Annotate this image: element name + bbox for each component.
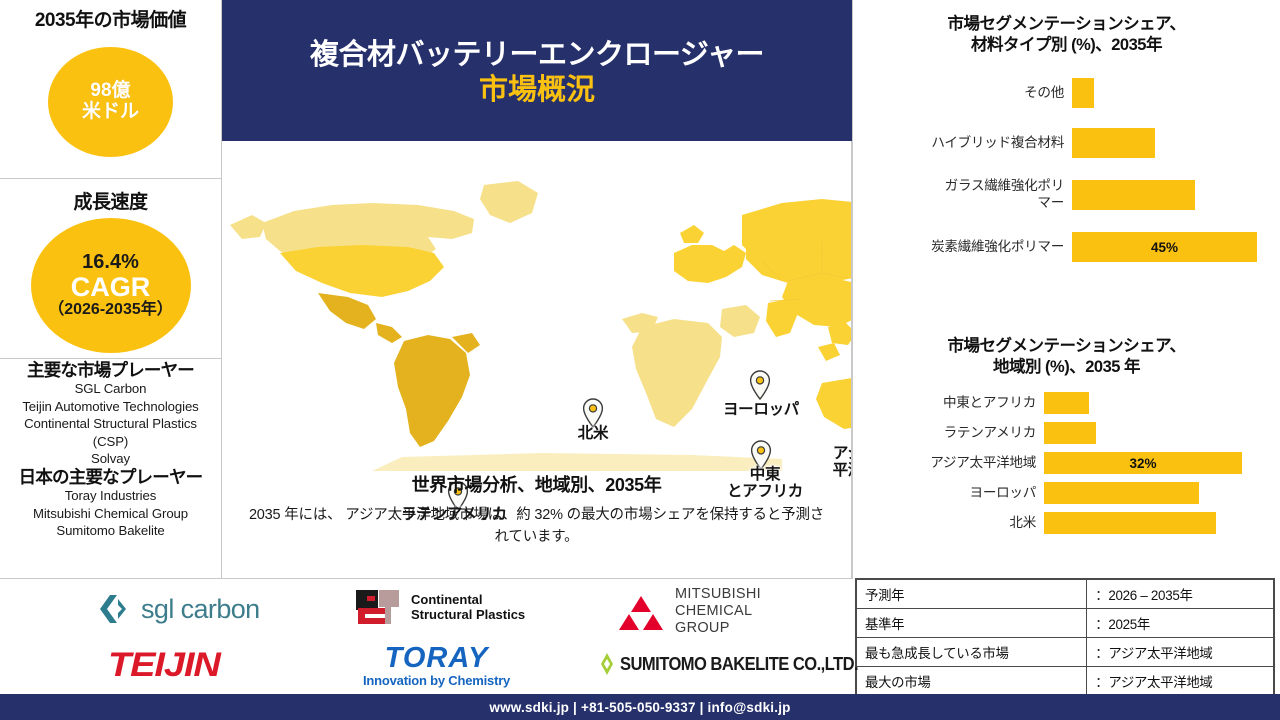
- growth-rate-section: 成長速度 16.4% CAGR （2026-2035年）: [0, 178, 221, 358]
- page-title: 複合材バッテリーエンクロージャー: [310, 38, 764, 72]
- regional-bar-row: 北米: [853, 512, 1280, 534]
- material-chart-title: 市場セグメンテーションシェア、 材料タイプ別 (%)、2035年: [853, 0, 1280, 78]
- teijin-wordmark: TEIJIN: [108, 646, 220, 685]
- material-share-chart: 市場セグメンテーションシェア、 材料タイプ別 (%)、2035年 その他 ハイブ…: [853, 0, 1280, 282]
- table-cell-value: ：2025年: [1087, 609, 1274, 638]
- growth-rate-title: 成長速度: [0, 179, 221, 214]
- map-label-north-america: 北米: [560, 425, 626, 442]
- footer-contact-bar: www.sdki.jp | +81-505-050-9337 | info@sd…: [0, 694, 1280, 720]
- world-map-panel: 北米 ヨーロッパ アジア太 平洋地域 中東 とアフリカ ラテンアメリカ 世界市場…: [222, 141, 852, 578]
- mcg-line1: MITSUBISHI: [675, 586, 761, 602]
- material-bar-label: ハイブリッド複合材料: [853, 135, 1072, 152]
- toray-wordmark: TORAY: [385, 644, 489, 673]
- logo-sumitomo-bakelite: SUMITOMO BAKELITE CO.,LTD.: [600, 652, 879, 676]
- japan-player-item: Sumitomo Bakelite: [4, 522, 217, 540]
- logo-mitsubishi-chemical-group: MITSUBISHI CHEMICAL GROUP: [617, 586, 761, 637]
- table-cell-value: ：アジア太平洋地域: [1087, 667, 1274, 696]
- infographic-page: 2035年の市場価値 98億 米ドル 成長速度 16.4% CAGR （2026…: [0, 0, 1280, 720]
- csp-mark-icon: [355, 588, 403, 628]
- map-caption-title: 世界市場分析、地域別、2035年: [222, 471, 851, 497]
- material-chart-title-line2: 材料タイプ別 (%)、2035年: [867, 35, 1266, 56]
- table-cell-key: 基準年: [857, 609, 1087, 638]
- market-value-currency: 米ドル: [82, 102, 139, 123]
- market-value-title: 2035年の市場価値: [0, 0, 221, 32]
- material-bar-row: その他: [853, 78, 1280, 108]
- regional-bar[interactable]: [1044, 422, 1096, 444]
- sumitomo-wordmark: SUMITOMO BAKELITE CO.,LTD.: [620, 654, 858, 675]
- table-row: 最も急成長している市場 ：アジア太平洋地域: [857, 638, 1274, 667]
- world-map-graphic: [222, 141, 852, 471]
- cagr-value: 16.4%: [82, 252, 139, 274]
- key-players-section: 主要な市場プレーヤー SGL Carbon Teijin Automotive …: [0, 358, 221, 578]
- mcg-line2: CHEMICAL: [675, 603, 752, 619]
- regional-chart-title-line2: 地域別 (%)、2035 年: [867, 357, 1266, 378]
- mcg-line3: GROUP: [675, 620, 730, 636]
- key-player-item: Continental Structural Plastics: [4, 415, 217, 433]
- csp-wordmark-line1: Continental: [411, 592, 483, 607]
- csp-wordmark-line2: Structural Plastics: [411, 607, 525, 622]
- material-bar-label-line1: ガラス繊維強化ポリ: [945, 178, 1064, 193]
- market-value-bubble: 98億 米ドル: [48, 47, 173, 157]
- map-caption: 世界市場分析、地域別、2035年 2035 年には、 アジア太平洋地域市場は、約…: [222, 471, 851, 549]
- regional-share-chart: 市場セグメンテーションシェア、 地域別 (%)、2035 年 中東とアフリカ ラ…: [853, 336, 1280, 542]
- regional-bar-label: 中東とアフリカ: [853, 395, 1044, 412]
- market-value-section: 2035年の市場価値 98億 米ドル: [0, 0, 221, 178]
- table-row: 基準年 ：2025年: [857, 609, 1274, 638]
- material-bar-row: ガラス繊維強化ポリ マー: [853, 178, 1280, 212]
- material-bar[interactable]: 45%: [1072, 232, 1257, 262]
- cagr-metric: CAGR: [71, 274, 151, 301]
- material-chart-title-line1: 市場セグメンテーションシェア、: [867, 14, 1266, 35]
- material-bar-label: ガラス繊維強化ポリ マー: [853, 178, 1072, 212]
- footer-contact-text[interactable]: www.sdki.jp | +81-505-050-9337 | info@sd…: [489, 700, 790, 715]
- table-cell-key: 最大の市場: [857, 667, 1087, 696]
- key-player-item: Teijin Automotive Technologies: [4, 398, 217, 416]
- key-players-title: 主要な市場プレーヤー: [4, 360, 217, 380]
- right-charts-panel: 市場セグメンテーションシェア、 材料タイプ別 (%)、2035年 その他 ハイブ…: [853, 0, 1280, 578]
- market-info-table: 予測年 ：2026 – 2035年 基準年 ：2025年 最も急成長している市場…: [855, 578, 1275, 696]
- regional-bar[interactable]: [1044, 482, 1199, 504]
- table-cell-value: ：アジア太平洋地域: [1087, 638, 1274, 667]
- table-row: 最大の市場 ：アジア太平洋地域: [857, 667, 1274, 696]
- regional-chart-title-line1: 市場セグメンテーションシェア、: [867, 336, 1266, 357]
- material-bar[interactable]: [1072, 180, 1195, 210]
- key-player-item: Solvay: [4, 450, 217, 468]
- table-row: 予測年 ：2026 – 2035年: [857, 580, 1274, 609]
- key-player-item: SGL Carbon: [4, 380, 217, 398]
- toray-tagline: Innovation by Chemistry: [363, 673, 510, 688]
- map-label-europe: ヨーロッパ: [706, 401, 816, 418]
- regional-bar[interactable]: 32%: [1044, 452, 1242, 474]
- regional-chart-title: 市場セグメンテーションシェア、 地域別 (%)、2035 年: [853, 336, 1280, 392]
- material-bar-label: その他: [853, 85, 1072, 102]
- sgl-carbon-mark-icon: [96, 592, 132, 626]
- regional-bar-row: 中東とアフリカ: [853, 392, 1280, 414]
- regional-bar-label: ヨーロッパ: [853, 485, 1044, 502]
- mitsubishi-three-diamonds-icon: [617, 592, 665, 632]
- mitsubishi-wordmark: MITSUBISHI CHEMICAL GROUP: [675, 586, 761, 637]
- material-bar-value: 45%: [1151, 240, 1178, 255]
- regional-bar[interactable]: [1044, 392, 1089, 414]
- key-player-item: (CSP): [4, 433, 217, 451]
- csp-wordmark: Continental Structural Plastics: [411, 593, 525, 623]
- regional-bar[interactable]: [1044, 512, 1216, 534]
- regional-bar-label: 北米: [853, 515, 1044, 532]
- growth-rate-bubble: 16.4% CAGR （2026-2035年）: [31, 218, 191, 353]
- japan-players-title: 日本の主要なプレーヤー: [4, 467, 217, 487]
- market-value-amount: 98億: [90, 81, 130, 102]
- map-caption-text: 2035 年には、 アジア太平洋地域市場は、約 32% の最大の市場シェアを保持…: [222, 505, 851, 549]
- table-cell-value: ：2026 – 2035年: [1087, 580, 1274, 609]
- map-pin-north-america[interactable]: [582, 398, 604, 428]
- material-bar-row: 炭素繊維強化ポリマー 45%: [853, 232, 1280, 262]
- table-cell-key: 予測年: [857, 580, 1087, 609]
- material-bar-label-line2: マー: [1037, 195, 1064, 210]
- logo-sgl-carbon: sgl carbon: [96, 592, 260, 626]
- japan-player-item: Mitsubishi Chemical Group: [4, 505, 217, 523]
- logo-toray: TORAY Innovation by Chemistry: [363, 644, 510, 688]
- left-sidebar: 2035年の市場価値 98億 米ドル 成長速度 16.4% CAGR （2026…: [0, 0, 222, 578]
- regional-bar-row: アジア太平洋地域 32%: [853, 452, 1280, 474]
- material-bar-row: ハイブリッド複合材料: [853, 128, 1280, 158]
- header-banner: 複合材バッテリーエンクロージャー 市場概況: [222, 0, 852, 141]
- map-label-asia-pacific-line1: アジア太: [833, 445, 852, 462]
- regional-bar-label: アジア太平洋地域: [853, 455, 1044, 472]
- sumitomo-diamond-icon: [600, 652, 614, 676]
- japan-player-item: Toray Industries: [4, 487, 217, 505]
- regional-bar-value: 32%: [1129, 456, 1156, 471]
- map-pin-europe[interactable]: [749, 370, 771, 400]
- sgl-carbon-wordmark: sgl carbon: [141, 594, 260, 625]
- logo-teijin: TEIJIN: [108, 646, 208, 685]
- cagr-period: （2026-2035年）: [48, 301, 173, 318]
- regional-bar-label: ラテンアメリカ: [853, 425, 1044, 442]
- material-bar[interactable]: [1072, 78, 1094, 108]
- page-subtitle: 市場概況: [479, 73, 595, 107]
- material-bar-label: 炭素繊維強化ポリマー: [853, 239, 1072, 256]
- material-bar[interactable]: [1072, 128, 1155, 158]
- logo-continental-structural-plastics: Continental Structural Plastics: [355, 588, 525, 628]
- regional-bar-row: ラテンアメリカ: [853, 422, 1280, 444]
- table-cell-key: 最も急成長している市場: [857, 638, 1087, 667]
- regional-bar-row: ヨーロッパ: [853, 482, 1280, 504]
